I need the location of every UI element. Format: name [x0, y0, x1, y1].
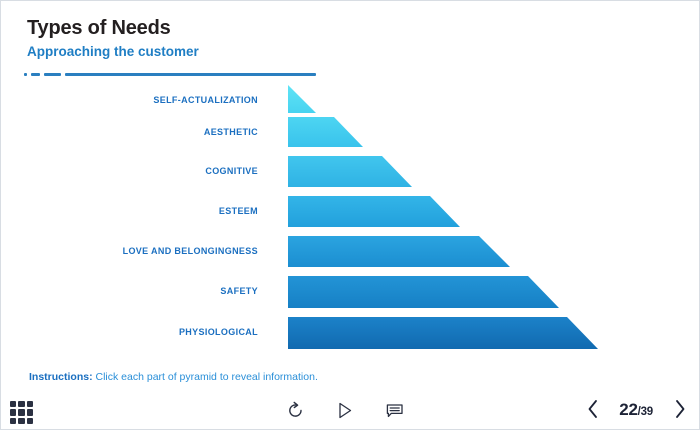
total-pages-number: /39 — [638, 406, 653, 418]
chevron-left-icon — [587, 399, 600, 422]
divider-solid-line — [65, 73, 316, 76]
divider-mid-dash — [44, 73, 61, 76]
notes-button[interactable] — [383, 397, 407, 423]
notes-icon — [386, 401, 404, 420]
tier-label-cognitive: COGNITIVE — [205, 167, 258, 176]
grid-cell — [27, 409, 33, 415]
grid-cell — [27, 401, 33, 407]
player-toolbar: 22 /39 — [1, 393, 700, 431]
tier-shape-esteem[interactable] — [288, 196, 464, 227]
replay-button[interactable] — [283, 397, 307, 423]
tier-shape-cognitive[interactable] — [288, 156, 415, 187]
grid-cell — [10, 409, 16, 415]
grid-cell — [18, 418, 24, 424]
grid-cell — [10, 401, 16, 407]
tier-shape-love-and-belongingness[interactable] — [288, 236, 514, 267]
grid-menu-icon[interactable] — [10, 401, 33, 424]
slide-canvas: Types of Needs Approaching the customer … — [0, 0, 700, 430]
play-icon — [337, 401, 353, 420]
needs-pyramid: SELF-ACTUALIZATION AESTHETIC — [1, 85, 700, 357]
play-button[interactable] — [333, 397, 357, 423]
tier-label-esteem: ESTEEM — [219, 207, 258, 216]
grid-cell — [18, 409, 24, 415]
instructions-label: Instructions: — [29, 371, 93, 383]
grid-cell — [18, 401, 24, 407]
replay-icon — [287, 401, 304, 420]
next-page-button[interactable] — [669, 397, 689, 423]
page-subtitle: Approaching the customer — [27, 44, 667, 60]
page-navigation: 22 /39 — [583, 397, 689, 423]
instructions-text: Instructions: Click each part of pyramid… — [29, 371, 318, 385]
divider-dot — [24, 73, 27, 76]
grid-cell — [10, 418, 16, 424]
media-controls — [283, 397, 407, 423]
chevron-right-icon — [673, 399, 686, 422]
slide-header: Types of Needs Approaching the customer — [27, 17, 667, 60]
tier-shape-safety[interactable] — [288, 276, 563, 308]
tier-label-love-and-belongingness: LOVE AND BELONGINGNESS — [123, 247, 258, 256]
header-divider — [24, 72, 316, 77]
tier-label-safety: SAFETY — [220, 287, 258, 296]
instructions-body: Click each part of pyramid to reveal inf… — [96, 371, 318, 383]
grid-cell — [27, 418, 33, 424]
tier-label-aesthetic: AESTHETIC — [204, 128, 258, 137]
prev-page-button[interactable] — [583, 397, 603, 423]
tier-label-self-actualization: SELF-ACTUALIZATION — [153, 96, 258, 105]
page-title: Types of Needs — [27, 17, 667, 40]
divider-short-dash — [31, 73, 40, 76]
tier-shape-physiological[interactable] — [288, 317, 603, 349]
tier-label-physiological: PHYSIOLOGICAL — [179, 328, 258, 337]
current-page-number: 22 — [619, 400, 637, 420]
tier-shape-aesthetic[interactable] — [288, 117, 366, 147]
page-counter: 22 /39 — [619, 400, 653, 420]
tier-shape-self-actualization[interactable] — [288, 85, 320, 113]
